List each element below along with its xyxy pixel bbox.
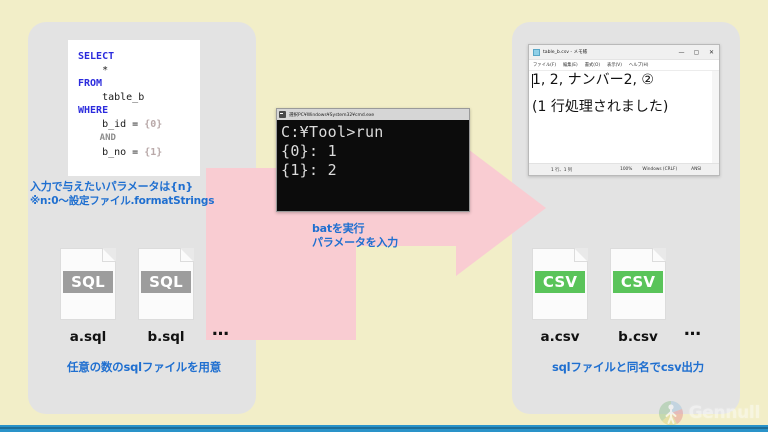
page-fold-edge (102, 248, 116, 262)
left-parameter-caption: 入力で与えたいパラメータは{n} ※n:0〜設定ファイル.formatStrin… (30, 180, 245, 208)
sql-code-card: SELECT * FROM table_b WHERE b_id = {0} A… (68, 40, 200, 176)
csv-file-icon: CSV (610, 248, 666, 320)
menu-view[interactable]: 表示(V) (607, 62, 622, 68)
command-prompt-window[interactable]: 選択PC¥Windows¥System32¥cmd.exe C:¥Tool>ru… (276, 108, 470, 212)
close-button[interactable]: ✕ (704, 45, 719, 59)
menu-format[interactable]: 書式(O) (585, 62, 600, 68)
menu-edit[interactable]: 編集(E) (563, 62, 578, 68)
notepad-titlebar[interactable]: table_b.csv - メモ帳 — ▢ ✕ (529, 45, 719, 60)
notepad-statusbar: 1 行、1 列 100% Windows (CRLF) ANSI (529, 163, 719, 175)
menu-help[interactable]: ヘルプ(H) (629, 62, 648, 68)
notepad-menubar[interactable]: ファイル(F) 編集(E) 書式(O) 表示(V) ヘルプ(H) (529, 60, 719, 71)
status-zoom-level: 100% (620, 167, 632, 172)
maximize-button[interactable]: ▢ (689, 45, 704, 59)
left-bottom-caption: 任意の数のsqlファイルを用意 (44, 360, 244, 374)
file-label-b-sql: b.sql (134, 329, 198, 345)
status-line-ending: Windows (CRLF) (642, 167, 677, 172)
page-fold-edge (652, 248, 666, 262)
sql-code-text: SELECT * FROM table_b WHERE b_id = {0} A… (68, 44, 200, 159)
csv-file-icon: CSV (532, 248, 588, 320)
document-icon (533, 49, 540, 56)
notepad-window[interactable]: table_b.csv - メモ帳 — ▢ ✕ ファイル(F) 編集(E) 書式… (528, 44, 720, 176)
sql-badge: SQL (141, 271, 191, 293)
page-fold-edge (180, 248, 194, 262)
watermark: Gennull (658, 400, 760, 426)
csv-badge: CSV (535, 271, 585, 293)
notepad-text-line2: (1 行処理されました) (532, 99, 712, 116)
left-caption-line2: ※n:0〜設定ファイル.formatStrings (30, 194, 245, 208)
sql-badge: SQL (63, 271, 113, 293)
file-item-b-csv[interactable]: CSV b.csv (606, 248, 670, 345)
notepad-title-text: table_b.csv - メモ帳 (543, 49, 674, 55)
csv-badge: CSV (613, 271, 663, 293)
notepad-text-area[interactable]: 1, 2, ナンバー2, ② (1 行処理されました) (529, 71, 719, 163)
menu-file[interactable]: ファイル(F) (533, 62, 556, 68)
center-caption-line2: パラメータを入力 (312, 236, 482, 250)
sql-file-group: SQL a.sql SQL b.sql … (56, 248, 229, 345)
brand-name: Gennull (689, 403, 760, 423)
console-output-text: C:¥Tool>run {0}: 1 {1}: 2 (277, 120, 469, 180)
page-fold-edge (574, 248, 588, 262)
sql-file-icon: SQL (138, 248, 194, 320)
console-titlebar[interactable]: 選択PC¥Windows¥System32¥cmd.exe (277, 109, 469, 120)
brand-logo-icon (658, 400, 684, 426)
file-item-b-sql[interactable]: SQL b.sql (134, 248, 198, 345)
center-caption-line1: batを実行 (312, 222, 482, 236)
sql-file-icon: SQL (60, 248, 116, 320)
slide-canvas: SELECT * FROM table_b WHERE b_id = {0} A… (0, 0, 768, 432)
bottom-accent-bar-inner (0, 427, 768, 429)
file-item-a-sql[interactable]: SQL a.sql (56, 248, 120, 345)
left-caption-line1: 入力で与えたいパラメータは{n} (30, 180, 193, 193)
status-encoding: ANSI (691, 167, 701, 172)
center-step-caption: batを実行 パラメータを入力 (312, 222, 482, 250)
console-title-text: 選択PC¥Windows¥System32¥cmd.exe (289, 112, 374, 118)
notepad-text-line1: 1, 2, ナンバー2, ② (532, 72, 712, 89)
sql-files-ellipsis: … (212, 320, 229, 345)
text-caret (532, 74, 533, 88)
right-bottom-caption: sqlファイルと同名でcsv出力 (520, 360, 736, 374)
file-item-a-csv[interactable]: CSV a.csv (528, 248, 592, 345)
cmd-icon (279, 111, 286, 118)
status-cursor-position: 1 行、1 列 (551, 167, 572, 173)
csv-file-group: CSV a.csv CSV b.csv … (528, 248, 701, 345)
file-label-a-sql: a.sql (56, 329, 120, 345)
file-label-b-csv: b.csv (606, 329, 670, 345)
csv-files-ellipsis: … (684, 320, 701, 345)
minimize-button[interactable]: — (674, 45, 689, 59)
file-label-a-csv: a.csv (528, 329, 592, 345)
bottom-accent-bar (0, 425, 768, 432)
